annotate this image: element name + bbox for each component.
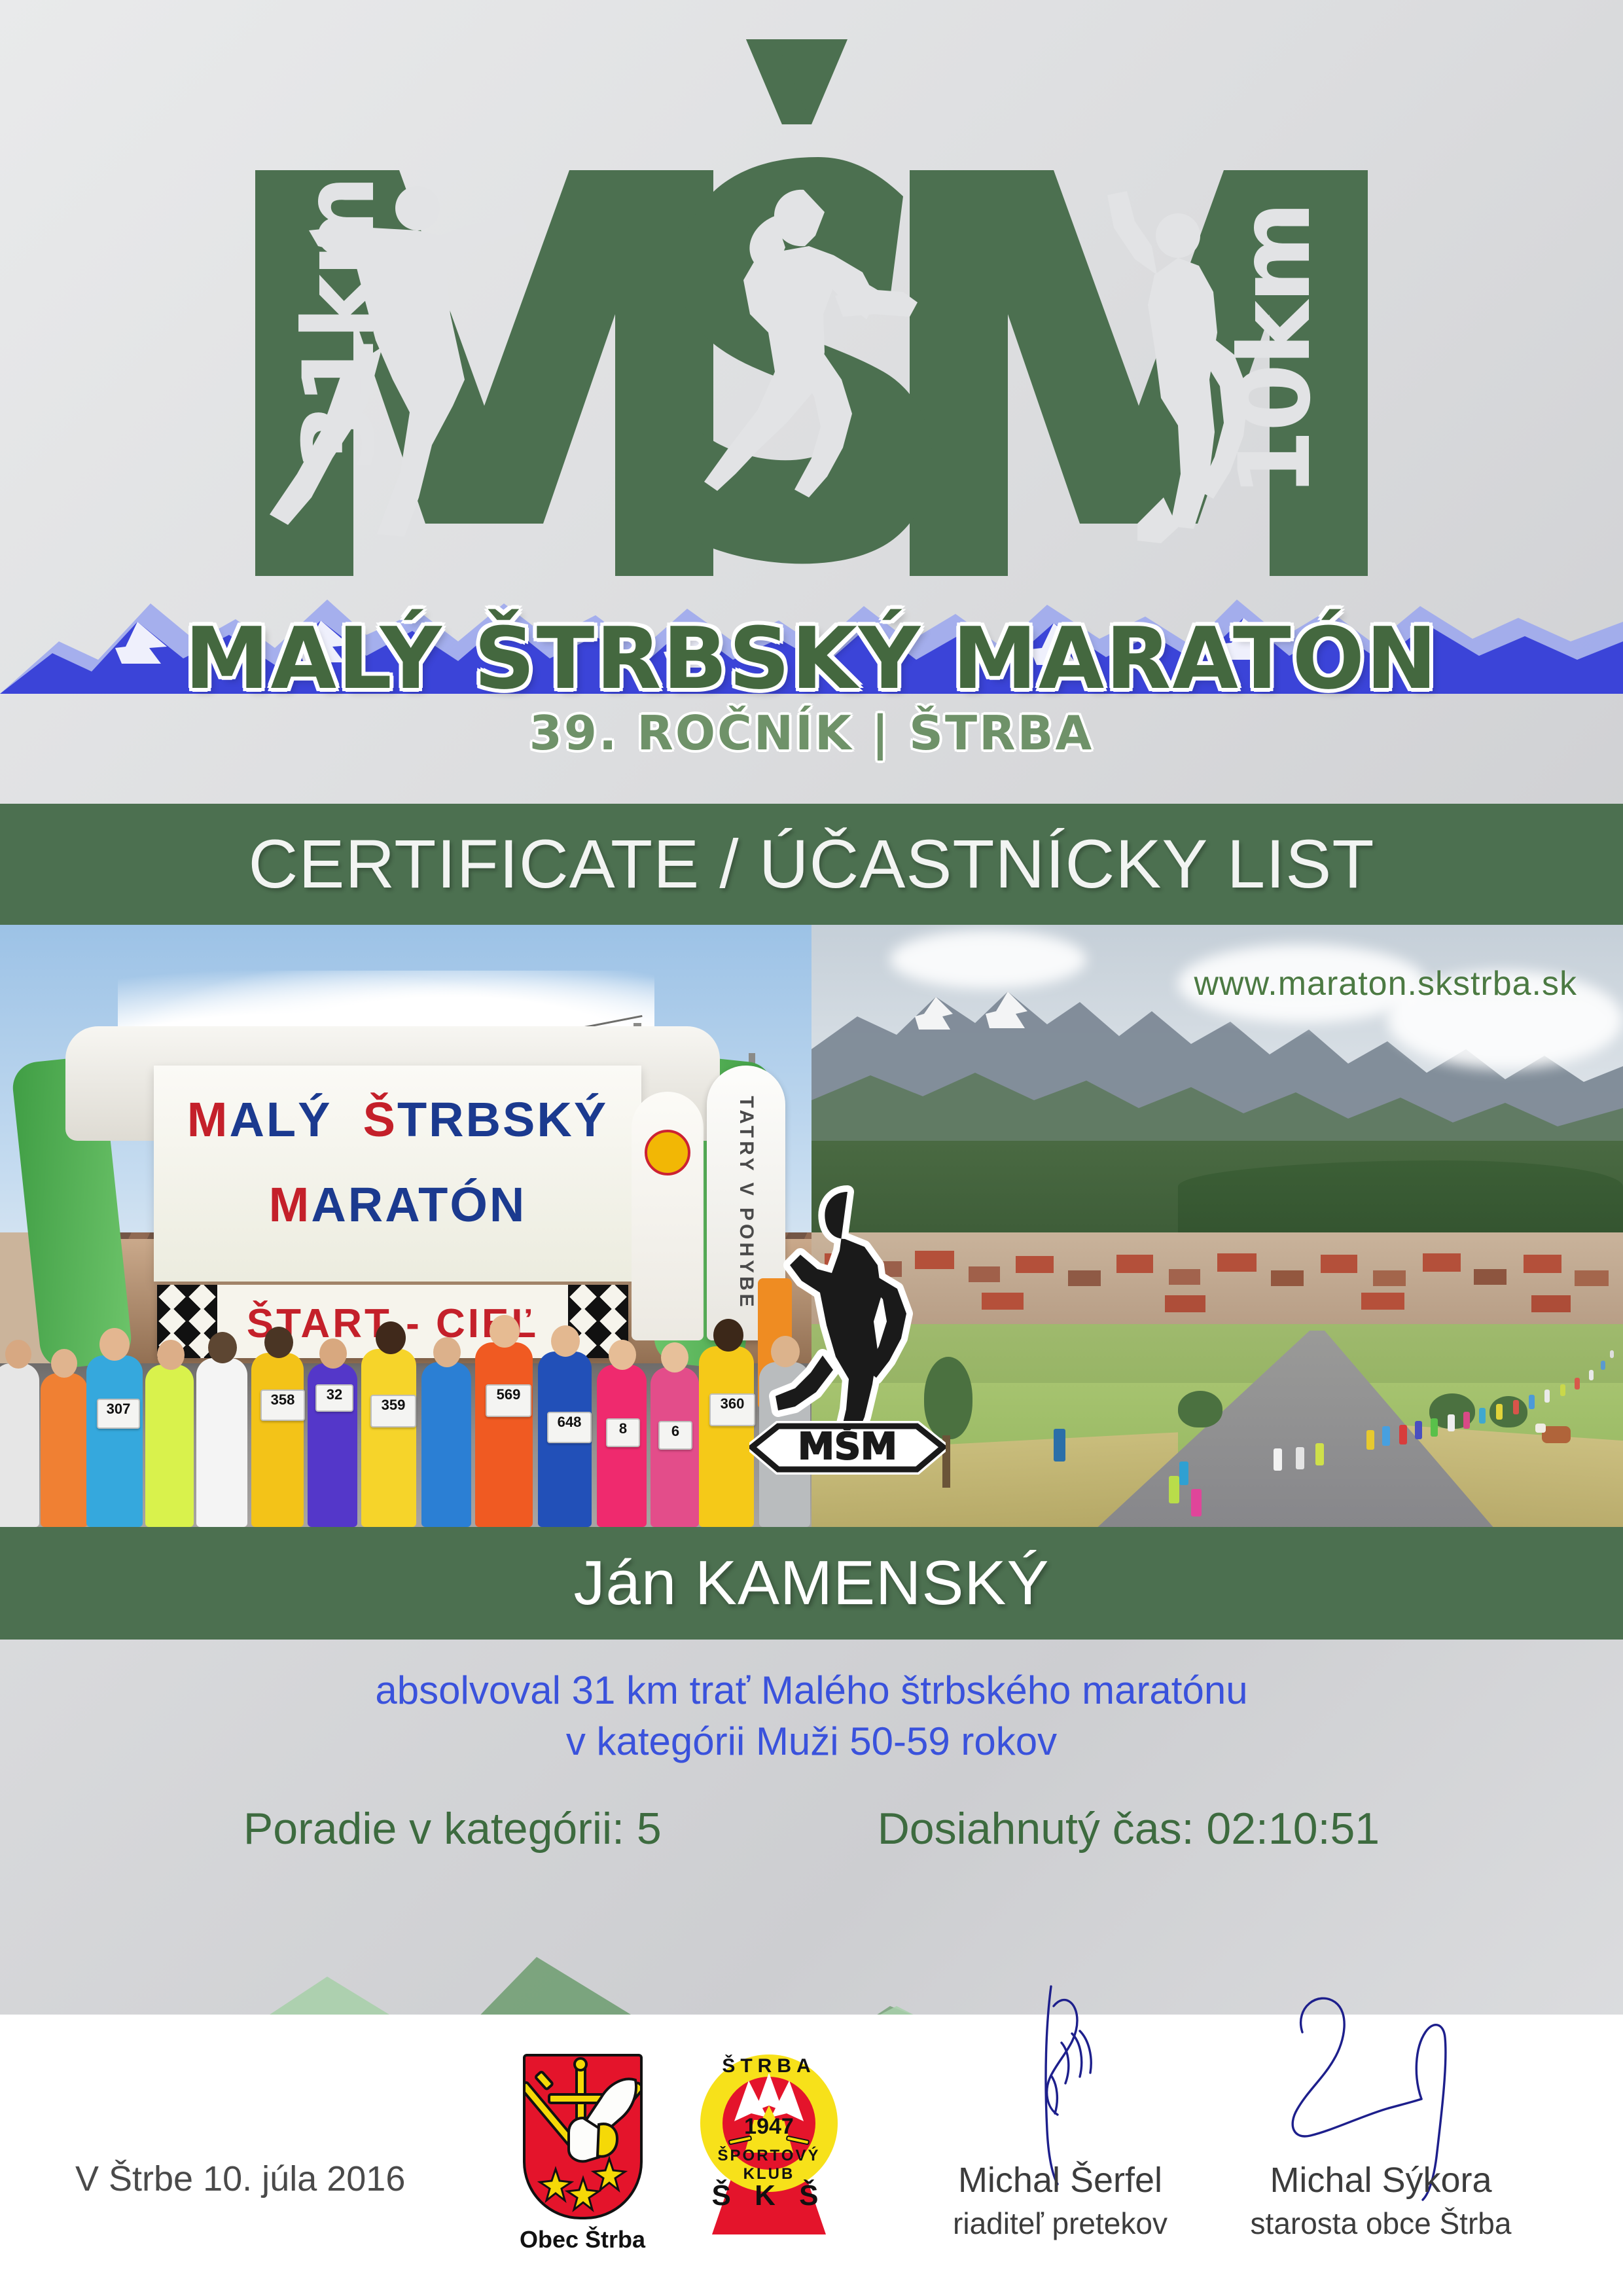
runner-crowd: 307 358 32 359 569 <box>0 1311 811 1527</box>
photo-row: MALÝ ŠTRBSKÝ MARATÓN ŠTART - CIEĽ TATRY … <box>0 925 1623 1527</box>
event-logo-zone: 31km 10km MALÝ ŠTRBSKÝ MARATÓN 39. ROČNÍ… <box>0 0 1623 798</box>
sks-year: 1947 <box>694 2114 844 2140</box>
participant-name: Ján KAMENSKÝ <box>574 1547 1050 1619</box>
svg-text:10km: 10km <box>1219 204 1332 497</box>
sks-bottom-text: ŠPORTOVÝ KLUB <box>694 2147 844 2183</box>
category-rank: Poradie v kategórii: 5 <box>243 1803 662 1854</box>
svg-text:MŠM: MŠM <box>798 1426 897 1468</box>
crest-shield-icon <box>523 2054 643 2219</box>
msm-runner-badge-icon: MŠM <box>749 1174 946 1481</box>
photo-start-line: MALÝ ŠTRBSKÝ MARATÓN ŠTART - CIEĽ TATRY … <box>0 925 811 1527</box>
arch-title-line2: MARATÓN <box>154 1177 641 1232</box>
certificate-heading: CERTIFICATE / ÚČASTNÍCKY LIST <box>249 825 1375 904</box>
sks-abbreviation: Š K Š <box>694 2179 844 2212</box>
result-row: Poradie v kategórii: 5 Dosiahnutý čas: 0… <box>0 1803 1623 1854</box>
obec-strba-crest: Obec Štrba <box>517 2054 648 2253</box>
certificate-heading-band: CERTIFICATE / ÚČASTNÍCKY LIST <box>0 804 1623 925</box>
arch-title-line1: MALÝ ŠTRBSKÝ <box>154 1092 641 1147</box>
certificate-body: absolvoval 31 km trať Malého štrbského m… <box>0 1640 1623 1914</box>
crest-label: Obec Štrba <box>517 2226 648 2253</box>
event-subtitle: 39. ROČNÍK | ŠTRBA <box>0 706 1623 761</box>
event-website-url: www.maraton.skstrba.sk <box>1194 964 1578 1003</box>
event-title: MALÝ ŠTRBSKÝ MARATÓN <box>0 609 1623 708</box>
place-and-date: V Štrbe 10. júla 2016 <box>75 2159 405 2199</box>
participant-name-band: Ján KAMENSKÝ <box>0 1527 1623 1640</box>
certificate-footer: V Štrbe 10. júla 2016 <box>0 2042 1623 2296</box>
svg-text:31km: 31km <box>283 177 397 471</box>
body-line-2: v kategórii Muži 50-59 rokov <box>0 1717 1623 1767</box>
certificate-page: 31km 10km MALÝ ŠTRBSKÝ MARATÓN 39. ROČNÍ… <box>0 0 1623 2296</box>
body-line-1: absolvoval 31 km trať Malého štrbského m… <box>0 1666 1623 1716</box>
sks-top-text: ŠTRBA <box>694 2055 844 2077</box>
sponsor-flag-secondary <box>632 1092 704 1340</box>
finish-time: Dosiahnutý čas: 02:10:51 <box>878 1803 1380 1854</box>
sks-club-logo: ŠTRBA 1947 ŠPORTOVÝ KLUB Š K Š <box>694 2051 844 2267</box>
msm-monogram-icon: 31km 10km <box>157 39 1466 576</box>
signer-role-mayor: starosta obce Štrba <box>1185 2206 1577 2241</box>
msm-logo-letters: 31km 10km <box>0 39 1623 576</box>
arch-banner: MALÝ ŠTRBSKÝ MARATÓN <box>154 1066 641 1282</box>
signature-icon-director <box>923 1980 1198 2189</box>
signer-name-mayor: Michal Sýkora <box>1185 2160 1577 2200</box>
